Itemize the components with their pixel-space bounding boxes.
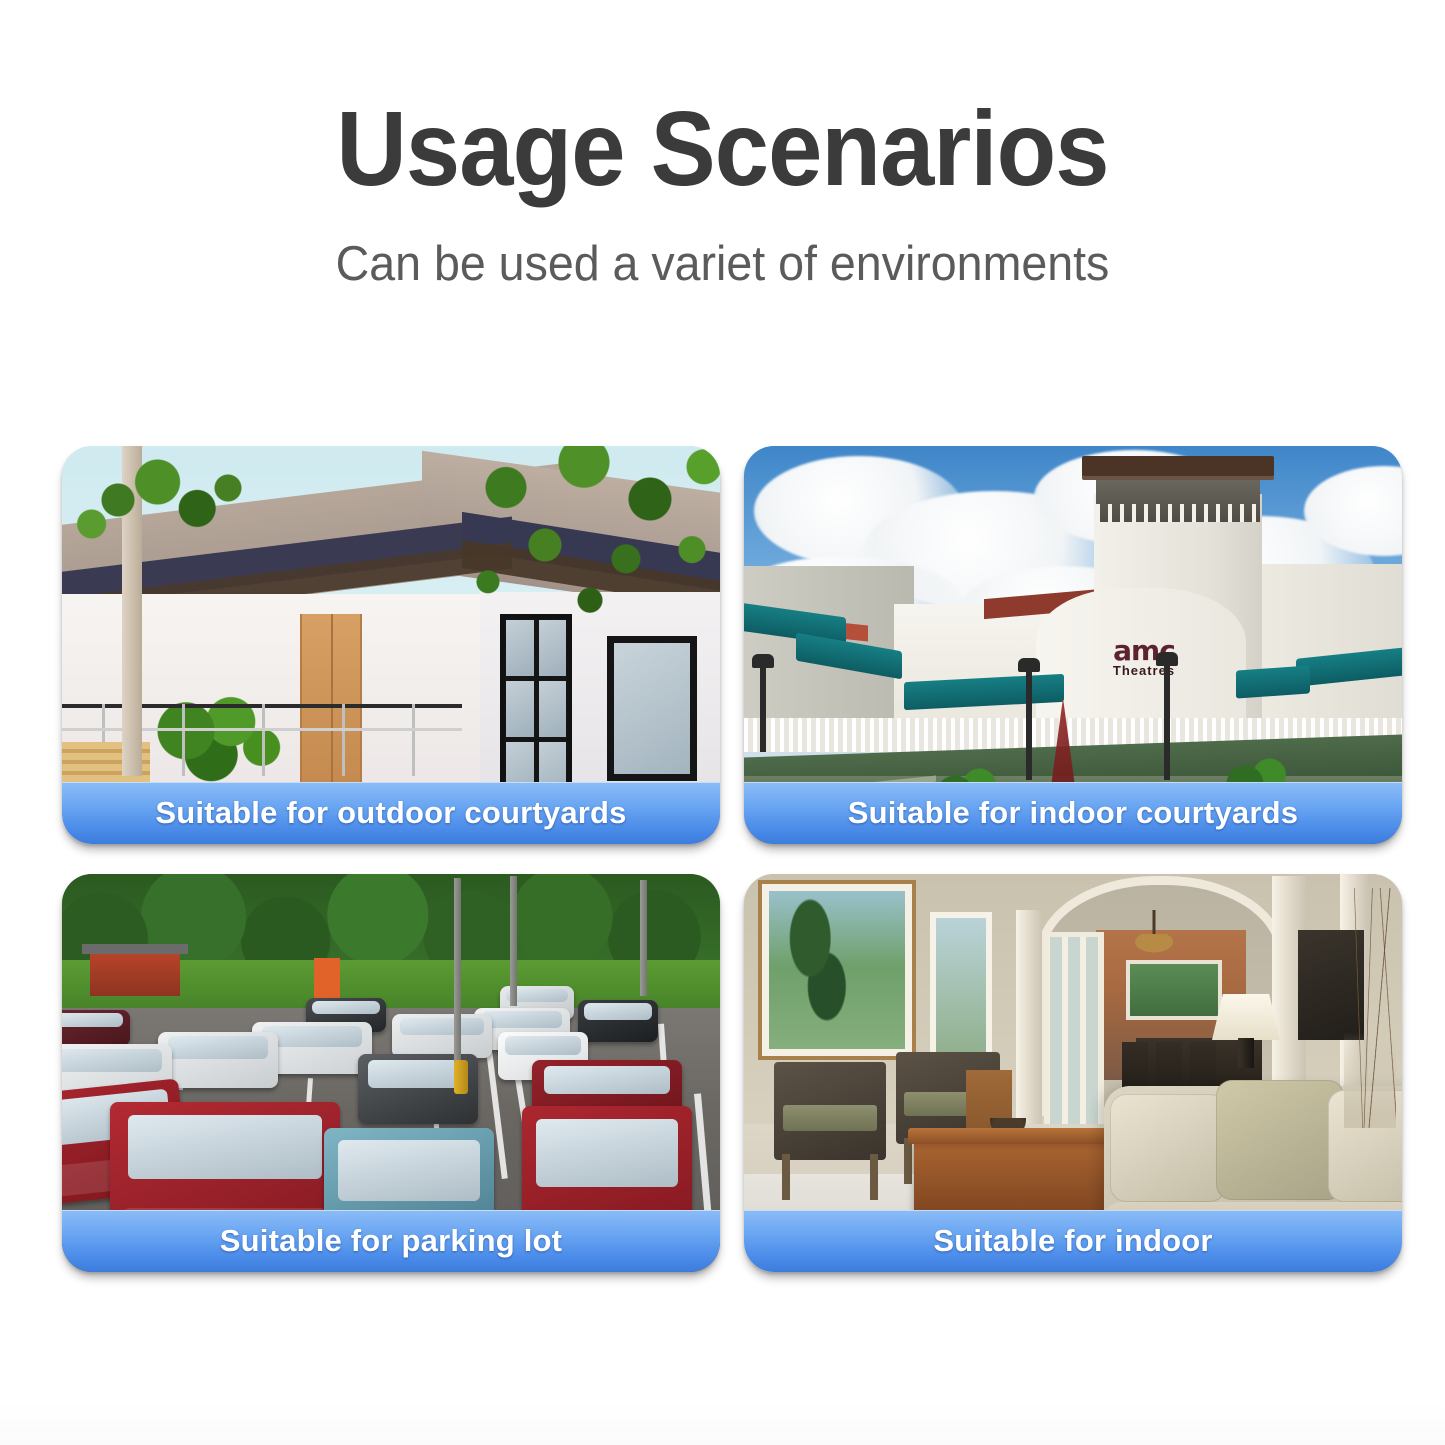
amc-sub-text: Theatres: [1074, 663, 1214, 678]
page-title: Usage Scenarios: [58, 96, 1387, 202]
street-lamp-icon: [1026, 670, 1032, 780]
page-header: Usage Scenarios Can be used a variet of …: [0, 0, 1445, 289]
scenario-card-indoor-courtyards[interactable]: amc Theatres Suitable for indoor courtya…: [744, 446, 1402, 844]
scenario-card-indoor[interactable]: Suitable for indoor: [744, 874, 1402, 1272]
living-room-window: [762, 884, 912, 1056]
chandelier-icon: [1132, 910, 1176, 958]
scenario-grid: Suitable for outdoor courtyards amc: [62, 446, 1392, 1272]
card-caption: Suitable for parking lot: [62, 1210, 720, 1272]
card-caption: Suitable for outdoor courtyards: [62, 782, 720, 844]
page-subtitle: Can be used a variet of environments: [36, 240, 1409, 289]
light-pole-icon: [640, 880, 647, 996]
decorative-branches: [1344, 888, 1396, 1128]
street-lamp-icon: [760, 666, 766, 752]
street-lamp-icon: [1164, 664, 1170, 780]
light-pole-icon: [510, 876, 517, 1006]
amc-brand-text: amc: [1074, 638, 1214, 663]
card-caption: Suitable for indoor: [744, 1210, 1402, 1272]
table-lamp-icon: [1212, 994, 1280, 1066]
card-caption: Suitable for indoor courtyards: [744, 782, 1402, 844]
amc-theatre-sign: amc Theatres: [1074, 638, 1214, 678]
armchair: [774, 1062, 886, 1160]
scenario-card-parking-lot[interactable]: Suitable for parking lot: [62, 874, 720, 1272]
usage-scenarios-page: Usage Scenarios Can be used a variet of …: [0, 0, 1445, 1445]
light-pole-icon: [454, 878, 461, 1084]
living-room-window: [930, 912, 992, 1062]
scenario-card-outdoor-courtyards[interactable]: Suitable for outdoor courtyards: [62, 446, 720, 844]
